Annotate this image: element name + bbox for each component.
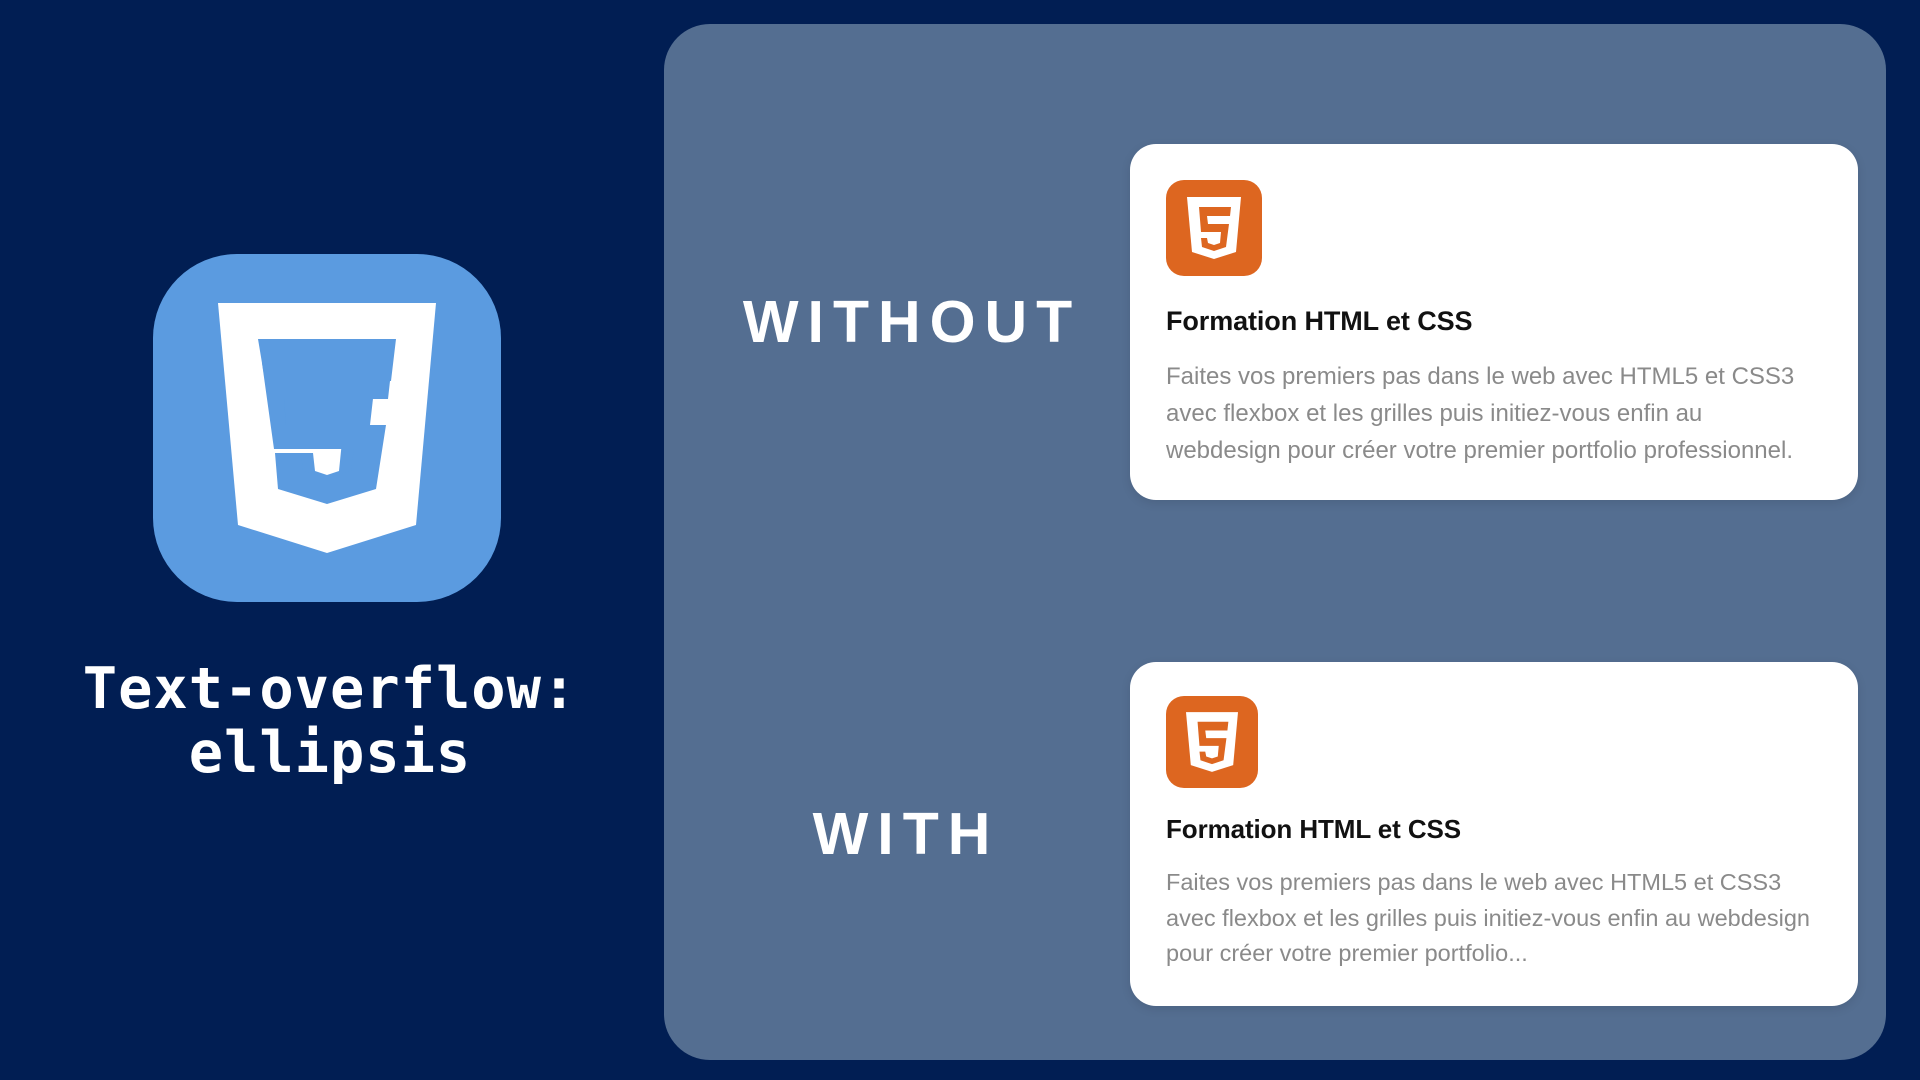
course-card-with[interactable]: Formation HTML et CSS Faites vos premier…: [1130, 662, 1858, 1007]
comparison-row-with: WITH Formation HTML et CSS Faites vos pr…: [664, 644, 1886, 1024]
course-card-title: Formation HTML et CSS: [1166, 814, 1822, 845]
page-title-line-1: Text-overflow:: [83, 656, 577, 722]
left-column: Text-overflow: ellipsis: [0, 0, 664, 1080]
course-card-description: Faites vos premiers pas dans le web avec…: [1166, 359, 1822, 469]
row-label-without: WITHOUT: [664, 288, 1130, 356]
page-title: Text-overflow: ellipsis: [0, 658, 662, 786]
html5-logo-icon: [1166, 696, 1258, 788]
comparison-row-without: WITHOUT Formation HTML et CSS Faites vos…: [664, 112, 1886, 532]
row-label-with: WITH: [664, 800, 1130, 868]
course-card-without[interactable]: Formation HTML et CSS Faites vos premier…: [1130, 144, 1858, 499]
course-card-title: Formation HTML et CSS: [1166, 306, 1822, 337]
slide-root: Text-overflow: ellipsis WITHOUT Formatio…: [0, 0, 1920, 1080]
css3-logo-icon: [153, 254, 501, 602]
page-title-line-2: ellipsis: [0, 722, 662, 786]
course-card-description: Faites vos premiers pas dans le web avec…: [1166, 865, 1822, 973]
html5-logo-icon: [1166, 180, 1262, 276]
comparison-panel: WITHOUT Formation HTML et CSS Faites vos…: [664, 24, 1886, 1060]
